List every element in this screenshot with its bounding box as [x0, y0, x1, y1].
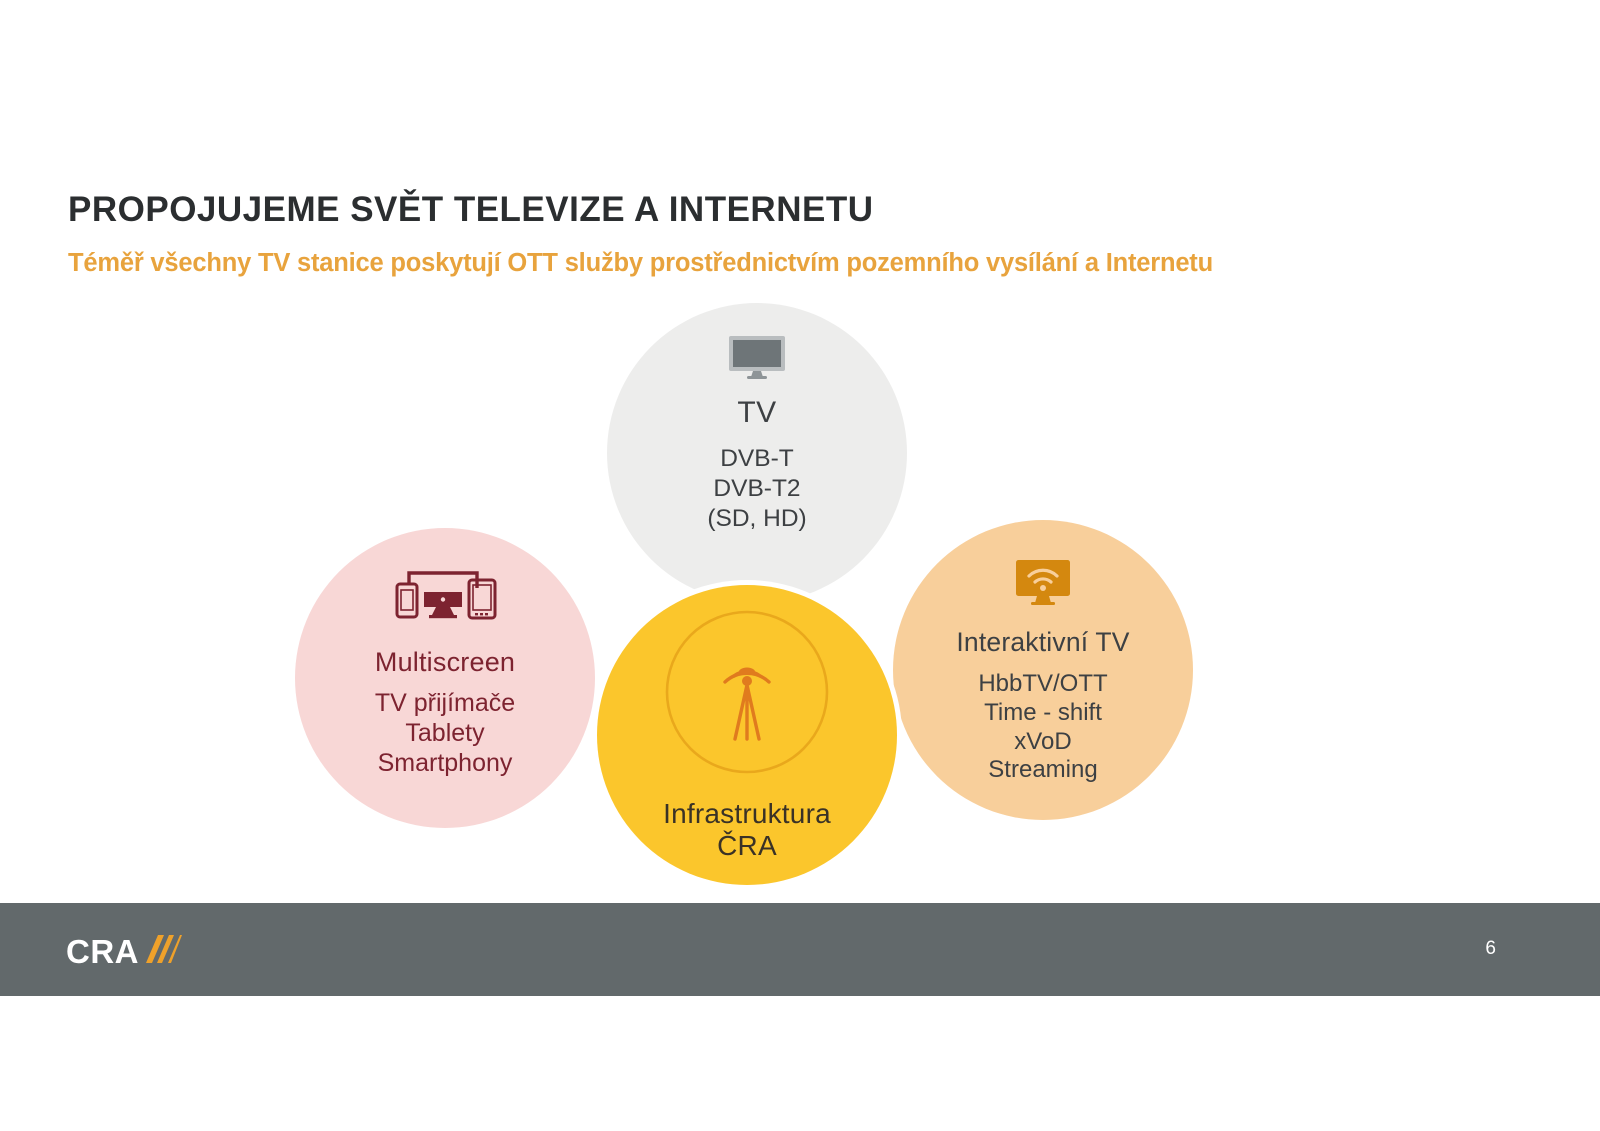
bubble-tv-lines: DVB-T DVB-T2 (SD, HD) — [707, 444, 806, 534]
bubble-multiscreen-heading: Multiscreen — [375, 647, 515, 678]
bubble-interactive-tv-lines: HbbTV/OTT Time - shift xVoD Streaming — [978, 670, 1107, 785]
bubble-line: (SD, HD) — [707, 504, 806, 534]
bubble-line: xVoD — [978, 728, 1107, 757]
bubble-line: DVB-T — [707, 444, 806, 474]
bubble-interactive-tv-heading: Interaktivní TV — [956, 627, 1129, 658]
bubble-tv[interactable]: TV DVB-T DVB-T2 (SD, HD) — [607, 303, 907, 603]
bubble-line: Streaming — [978, 756, 1107, 785]
three-slanted-bars-icon — [142, 933, 182, 970]
bubble-line: HbbTV/OTT — [978, 670, 1107, 699]
bubble-line: DVB-T2 — [707, 474, 806, 504]
bubble-line: Tablety — [375, 718, 515, 748]
bubble-diagram: Multiscreen TV přijímače Tablety Smartph… — [0, 0, 1600, 900]
bubble-heading-line: Infrastruktura — [663, 798, 831, 830]
bubble-multiscreen-lines: TV přijímače Tablety Smartphony — [375, 688, 515, 778]
cra-logo: CRA — [66, 932, 182, 970]
bubble-tv-heading: TV — [737, 396, 776, 430]
television-icon — [728, 335, 786, 386]
bubble-line: Smartphony — [375, 748, 515, 778]
bubble-infrastructure[interactable]: Infrastruktura ČRA — [597, 585, 897, 885]
cra-logo-text: CRA — [66, 935, 139, 968]
bubble-interactive-tv[interactable]: Interaktivní TV HbbTV/OTT Time - shift x… — [893, 520, 1193, 820]
bubble-line: Time - shift — [978, 699, 1107, 728]
multiscreen-devices-icon — [391, 568, 499, 625]
slide: PROPOJUJEME SVĚT TELEVIZE A INTERNETU Té… — [0, 0, 1600, 1131]
bubble-infrastructure-heading: Infrastruktura ČRA — [663, 798, 831, 862]
footer-bar — [0, 903, 1600, 996]
bubble-multiscreen[interactable]: Multiscreen TV přijímače Tablety Smartph… — [295, 528, 595, 828]
bubble-heading-line: ČRA — [663, 830, 831, 862]
page-number: 6 — [1485, 938, 1496, 960]
bubble-line: TV přijímače — [375, 688, 515, 718]
monitor-wifi-icon — [1014, 558, 1072, 611]
broadcast-tower-icon — [662, 607, 832, 782]
